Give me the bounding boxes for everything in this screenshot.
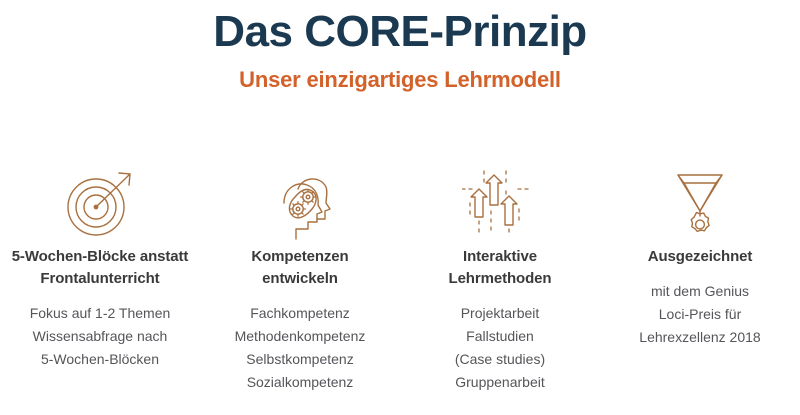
- feature-heading-line2: Lehrmethoden: [449, 270, 552, 287]
- feature-body-line: Fallstudien: [406, 325, 594, 348]
- feature-body-line: mit dem Genius: [606, 280, 794, 303]
- upward-arrows-icon: [406, 160, 594, 246]
- feature-body-line: Gruppenarbeit: [406, 371, 594, 394]
- feature-body-line: 5-Wochen-Blöcken: [6, 348, 194, 371]
- feature-body-line: Methodenkompetenz: [206, 325, 394, 348]
- feature-heading-line1: Kompetenzen: [251, 248, 348, 265]
- feature-columns: 5-Wochen-Blöcke anstatt Frontalunterrich…: [0, 160, 800, 394]
- header: Das CORE-Prinzip Unser einzigartiges Leh…: [0, 0, 800, 94]
- heads-gears-icon: [206, 160, 394, 246]
- feature-heading-1: 5-Wochen-Blöcke anstatt Frontalunterrich…: [6, 246, 194, 290]
- feature-body-line: Fokus auf 1-2 Themen: [6, 302, 194, 325]
- feature-heading-4: Ausgezeichnet: [606, 246, 794, 268]
- feature-body-line: Selbstkompetenz: [206, 348, 394, 371]
- feature-body-line: Projektarbeit: [406, 302, 594, 325]
- feature-heading-3: Interaktive Lehrmethoden: [406, 246, 594, 290]
- page-subtitle: Unser einzigartiges Lehrmodell: [0, 58, 800, 94]
- feature-body-line: Wissensabfrage nach: [6, 325, 194, 348]
- target-bullseye-arrow-icon: [6, 160, 194, 246]
- feature-heading-line2: entwickeln: [262, 270, 338, 287]
- feature-body-line: Sozialkompetenz: [206, 371, 394, 394]
- feature-heading-2: Kompetenzen entwickeln: [206, 246, 394, 290]
- core-principle-infographic: Das CORE-Prinzip Unser einzigartiges Leh…: [0, 0, 800, 415]
- feature-heading-line1: Ausgezeichnet: [648, 248, 753, 265]
- feature-body-line: (Case studies): [406, 348, 594, 371]
- feature-body-line: Lehrexzellenz 2018: [606, 326, 794, 349]
- feature-body-4: mit dem Genius Loci-Preis für Lehrexzell…: [606, 268, 794, 349]
- feature-body-line: Loci-Preis für: [606, 303, 794, 326]
- feature-body-1: Fokus auf 1-2 Themen Wissensabfrage nach…: [6, 290, 194, 371]
- feature-body-3: Projektarbeit Fallstudien (Case studies)…: [406, 290, 594, 394]
- feature-column-1: 5-Wochen-Blöcke anstatt Frontalunterrich…: [0, 160, 200, 371]
- medal-award-icon: [606, 160, 794, 246]
- feature-body-2: Fachkompetenz Methodenkompetenz Selbstko…: [206, 290, 394, 394]
- feature-column-4: Ausgezeichnet mit dem Genius Loci-Preis …: [600, 160, 800, 349]
- feature-heading-line1: 5-Wochen-Blöcke anstatt: [12, 248, 189, 265]
- feature-body-line: Fachkompetenz: [206, 302, 394, 325]
- feature-column-2: Kompetenzen entwickeln Fachkompetenz Met…: [200, 160, 400, 394]
- feature-heading-line1: Interaktive: [463, 248, 537, 265]
- feature-column-3: Interaktive Lehrmethoden Projektarbeit F…: [400, 160, 600, 394]
- feature-heading-line2: Frontalunterricht: [40, 270, 159, 287]
- page-title: Das CORE-Prinzip: [0, 0, 800, 58]
